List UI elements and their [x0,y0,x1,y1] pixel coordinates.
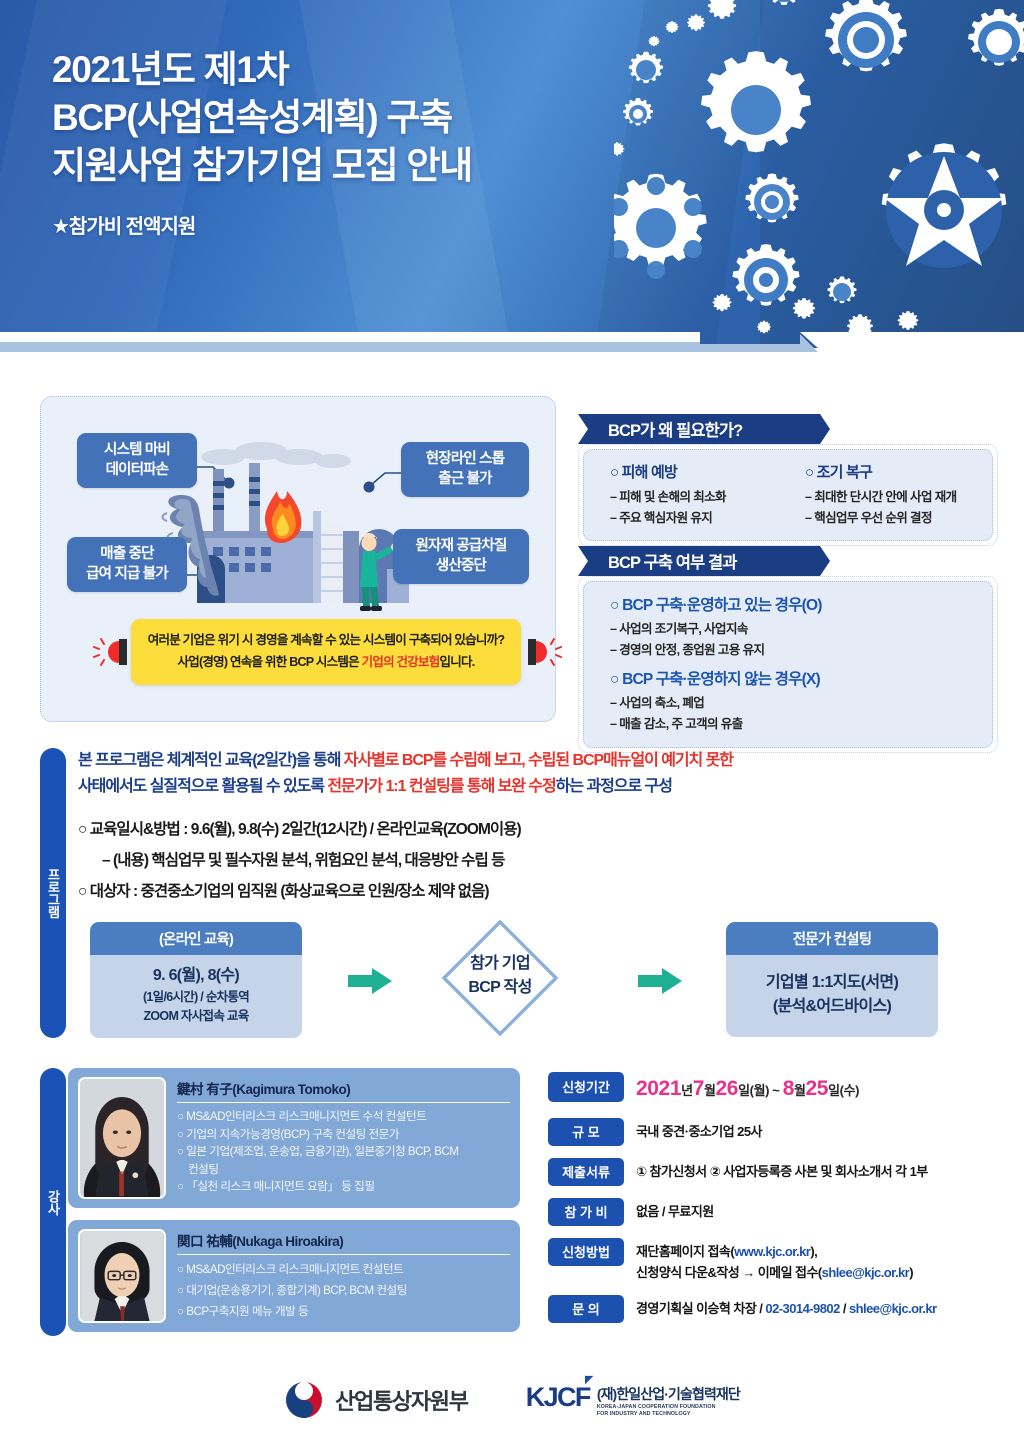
logo-kjcf-mark: KJCF◤ [526,1382,590,1413]
outcome-group-no: ○ BCP 구축·운영하지 않는 경우(X) – 사업의 축소, 폐업 – 매출… [610,667,978,734]
col1-item-1: – 피해 및 손해의 최소화 [610,487,783,508]
apply-label-contact: 문 의 [548,1295,624,1323]
diamond-line-2: BCP 작성 [440,976,560,1000]
apply-value-period: 2021년7월26일(월) ~ 8월25일(수) [624,1072,859,1106]
apply-value-documents: ① 참가신청서 ② 사업자등록증 사본 및 회사소개서 각 1부 [624,1158,928,1182]
apply-row-documents: 제출서류 ① 참가신청서 ② 사업자등록증 사본 및 회사소개서 각 1부 [548,1158,1000,1186]
apply-row-scale: 규 모 국내 중견·중소기업 25사 [548,1118,1000,1146]
group1-head: ○ BCP 구축·운영하고 있는 경우(O) [610,593,978,615]
lecturer-card-2: 関口 祐輔(Nukaga Hiroakira) ○ MS&AD인터리스크 리스크… [68,1220,520,1332]
chip-line-1: 시스템 마비 [87,441,187,461]
taegeuk-icon [284,1380,324,1420]
risk-chip-system-failure: 시스템 마비 데이터파손 [77,433,197,488]
section-bcp-outcome: BCP 구축 여부 결과 ○ BCP 구축·운영하고 있는 경우(O) – 사업… [578,546,998,753]
method-l1-link[interactable]: www.kjc.or.kr [734,1244,810,1259]
flow-box-online-training: (온라인 교육) 9. 6(월), 8(수) (1일/6시간) / 순차통역 Z… [90,922,302,1038]
callout-l2-highlight: 기업의 건강보험 [362,655,440,669]
chip-line-2: 출근 불가 [411,470,519,490]
callout-line-1: 여러분 기업은 위기 시 경영을 계속할 수 있는 시스템이 구축되어 있습니까… [148,630,505,652]
lecturer-1-bullet-3-cont: 컨설팅 [177,1161,510,1179]
poster-header: 2021년도 제1차 BCP(사업연속성계획) 구축 지원사업 참가기업 모집 … [0,0,1024,348]
period-text: 2021년7월26일(월) ~ 8월25일(수) [636,1083,859,1098]
risk-chip-line-stop: 현장라인 스톱 출근 불가 [401,442,529,497]
callout-line-2: 사업(경영) 연속을 위한 BCP 시스템은 기업의 건강보험입니다. [177,652,474,674]
logo-kjcf: KJCF◤ (재)한일산업·기술협력재단 KOREA-JAPAN COOPERA… [526,1382,740,1418]
flow-box-c-line-2: (분석&어드바이스) [726,995,938,1019]
logo-kjcf-superscript: ◤ [585,1373,592,1386]
callout-l2-pre: 사업(경영) 연속을 위한 BCP 시스템은 [177,655,361,669]
flow-box-a-line-1: 9. 6(월), 8(수) [90,964,302,988]
logo-kjcf-text: (재)한일산업·기술협력재단 KOREA-JAPAN COOPERATION F… [597,1382,740,1418]
risk-chip-supply-disruption: 원자재 공급차질 생산중단 [393,529,529,584]
lecturer-2-bullet-3: ○ BCP구축지원 메뉴 개발 등 [177,1302,510,1323]
apply-label-fee: 참 가 비 [548,1198,624,1226]
method-line-2: 신청양식 다운&작성 → 이메일 접수(shlee@kjc.or.kr) [636,1262,913,1283]
logo-kjcf-name: (재)한일산업·기술협력재단 [597,1384,740,1404]
logo-kjcf-mark-text: KJCF [526,1382,590,1412]
title-line-1: 2021년도 제1차 [52,46,732,94]
section-1-col-1: ○ 피해 예방 – 피해 및 손해의 최소화 – 주요 핵심자원 유지 [610,461,783,528]
period-day-2: 25 [806,1077,829,1100]
program-bullets: ○ 교육일시&방법 : 9.6(월), 9.8(수) 2일간(12시간) / 온… [78,818,998,904]
contact-phone[interactable]: 02-3014-9802 [765,1301,839,1316]
logo-motie: 산업통상자원부 [284,1380,468,1420]
apply-row-period: 신청기간 2021년7월26일(월) ~ 8월25일(수) [548,1072,1000,1106]
apply-label-scale: 규 모 [548,1118,624,1146]
lead-p2: 사태에서도 실질적으로 활용될 수 있도록 [78,778,327,795]
method-l1-pre: 재단홈페이지 접속( [636,1244,734,1259]
lecturer-1-info: 鍵村 有子(Kagimura Tomoko) ○ MS&AD인터리스크 리스크매… [177,1077,510,1199]
flow-diamond-label: 참가 기업 BCP 작성 [440,952,560,1000]
flow-box-a-line-3: ZOOM 자사접속 교육 [90,1007,302,1026]
title-line-3: 지원사업 참가기업 모집 안내 [52,142,732,190]
col2-head: ○ 조기 복구 [805,461,978,482]
contact-pre: 경영기획실 이승혁 차장 / [636,1301,765,1316]
application-info-table: 신청기간 2021년7월26일(월) ~ 8월25일(수) 규 모 국내 중견·… [548,1072,1000,1332]
flow-box-a-header: (온라인 교육) [90,922,302,955]
section-1-body: ○ 피해 예방 – 피해 및 손해의 최소화 – 주요 핵심자원 유지 ○ 조기… [583,449,993,541]
apply-value-scale: 국내 중견·중소기업 25사 [624,1118,762,1142]
flow-box-a-line-2: (1일/6시간) / 순차통역 [90,988,302,1007]
apply-value-method: 재단홈페이지 접속(www.kjc.or.kr), 신청양식 다운&작성 → 이… [624,1238,913,1283]
group1-item-1: – 사업의 조기복구, 사업지속 [610,619,978,640]
lead-r1: 자사별로 BCP를 수립해 보고, 수립된 BCP매뉴얼이 예기치 못한 [344,752,733,769]
period-year-unit: 년 [681,1083,693,1098]
chip-line-1: 매출 중단 [77,545,177,565]
period-day-1: 26 [716,1077,739,1100]
sidebar-tab-program-label: 프로그램 [47,868,60,918]
period-month-1-unit: 월 [704,1083,716,1098]
lead-p1: 본 프로그램은 체계적인 교육(2일간)을 통해 [78,752,344,769]
lecturer-1-bullet-3: ○ 일본 기업(제조업, 운송업, 금융기관), 일본중기청 BCP, BCM [177,1143,510,1161]
col2-item-2: – 핵심업무 우선 순위 결정 [805,508,978,529]
group1-item-2: – 경영의 안정, 종업원 고용 유지 [610,640,978,661]
period-month-2: 8 [783,1077,794,1100]
contact-mid: / [840,1301,849,1316]
program-bullet-2: – (내용) 핵심업무 및 필수자원 분석, 위험요인 분석, 대응방안 수립 … [78,849,998,873]
program-flow-diagram: (온라인 교육) 9. 6(월), 8(수) (1일/6시간) / 순차통역 Z… [90,922,998,1034]
flow-box-c-body: 기업별 1:1지도(서면) (분석&어드바이스) [726,955,938,1037]
chip-line-1: 현장라인 스톱 [411,450,519,470]
period-month-1: 7 [693,1077,704,1100]
outcome-group-yes: ○ BCP 구축·운영하고 있는 경우(O) – 사업의 조기복구, 사업지속 … [610,593,978,660]
flow-box-expert-consulting: 전문가 컨설팅 기업별 1:1지도(서면) (분석&어드바이스) [726,922,938,1037]
title-line-2: BCP(사업연속성계획) 구축 [52,94,732,142]
program-section: 본 프로그램은 체계적인 교육(2일간)을 통해 자사별로 BCP를 수립해 보… [78,748,998,911]
question-callout: 여러분 기업은 위기 시 경영을 계속할 수 있는 시스템이 구축되어 있습니까… [131,619,521,685]
program-bullet-3: ○ 대상자 : 중견중소기업의 임직원 (화상교육으로 인원/장소 제약 없음) [78,880,998,904]
lecturer-2-info: 関口 祐輔(Nukaga Hiroakira) ○ MS&AD인터리스크 리스크… [177,1229,510,1323]
apply-row-contact: 문 의 경영기획실 이승혁 차장 / 02-3014-9802 / shlee@… [548,1295,1000,1323]
diamond-line-1: 참가 기업 [440,952,560,976]
flow-box-c-header: 전문가 컨설팅 [726,922,938,955]
section-1-tab: BCP가 왜 필요한가? [578,414,830,444]
lecturer-2-name: 関口 祐輔(Nukaga Hiroakira) [177,1230,510,1255]
lecturer-1-bullet-1: ○ MS&AD인터리스크 리스크매니지먼트 수석 컨설턴트 [177,1108,510,1126]
group2-item-2: – 매출 감소, 주 고객의 유출 [610,714,978,735]
logo-motie-label: 산업통상자원부 [335,1384,468,1416]
section-why-bcp: BCP가 왜 필요한가? ○ 피해 예방 – 피해 및 손해의 최소화 – 주요… [578,414,998,546]
apply-label-period: 신청기간 [548,1072,624,1102]
poster-subtitle: ★참가비 전액지원 [52,210,732,239]
lecturer-1-bullet-4: ○ 「실천 리스크 매니지먼트 요람」 등 집필 [177,1178,510,1196]
col1-item-2: – 주요 핵심자원 유지 [610,508,783,529]
lecturer-card-1: 鍵村 有子(Kagimura Tomoko) ○ MS&AD인터리스크 리스크매… [68,1068,520,1208]
sidebar-tab-lecturer-label: 강사 [47,1190,60,1215]
callout-l2-post: 입니다. [440,655,475,669]
program-bullet-1: ○ 교육일시&방법 : 9.6(월), 9.8(수) 2일간(12시간) / 온… [78,818,998,842]
lecturer-1-name: 鍵村 有子(Kagimura Tomoko) [177,1078,510,1103]
method-l1-post: ), [810,1244,817,1259]
section-1-outer: ○ 피해 예방 – 피해 및 손해의 최소화 – 주요 핵심자원 유지 ○ 조기… [578,444,998,546]
logo-kjcf-en-1: KOREA-JAPAN COOPERATION FOUNDATION [597,1404,740,1411]
chip-line-1: 원자재 공급차질 [403,537,519,557]
flow-arrow-2-icon [638,968,682,994]
risk-chip-revenue-stop: 매출 중단 급여 지급 불가 [67,537,187,592]
program-lead: 본 프로그램은 체계적인 교육(2일간)을 통해 자사별로 BCP를 수립해 보… [78,748,998,800]
lecturer-1-continuation: 컨설팅 [177,1161,510,1179]
apply-value-contact: 경영기획실 이승혁 차장 / 02-3014-9802 / shlee@kjc.… [624,1295,937,1319]
flow-box-a-body: 9. 6(월), 8(수) (1일/6시간) / 순차통역 ZOOM 자사접속 … [90,955,302,1038]
flow-box-c-line-1: 기업별 1:1지도(서면) [726,971,938,995]
period-year: 2021 [636,1077,681,1100]
method-l2-post: ) [909,1265,913,1280]
lecturer-2-bullet-2: ○ 대기업(운송용기기, 종합기계) BCP, BCM 컨설팅 [177,1281,510,1302]
apply-row-method: 신청방법 재단홈페이지 접속(www.kjc.or.kr), 신청양식 다운&작… [548,1238,1000,1283]
flow-arrow-1-icon [348,968,392,994]
method-line-1: 재단홈페이지 접속(www.kjc.or.kr), [636,1241,913,1262]
lecturer-2-photo [78,1229,166,1323]
method-l2-link[interactable]: shlee@kjc.or.kr [822,1265,910,1280]
period-day-2-unit: 일(수) [828,1083,859,1098]
poster-title: 2021년도 제1차 BCP(사업연속성계획) 구축 지원사업 참가기업 모집 … [52,46,732,239]
section-2-tab: BCP 구축 여부 결과 [578,546,830,576]
group2-head: ○ BCP 구축·운영하지 않는 경우(X) [610,667,978,689]
col2-item-1: – 최대한 단시간 안에 사업 재개 [805,487,978,508]
footer-logos: 산업통상자원부 KJCF◤ (재)한일산업·기술협력재단 KOREA-JAPAN… [0,1368,1024,1432]
period-month-2-unit: 월 [794,1083,806,1098]
alarm-lamp-right-icon [524,635,562,669]
chip-line-2: 생산중단 [403,557,519,577]
chip-line-2: 데이터파손 [87,461,187,481]
lecturer-2-bullet-1: ○ MS&AD인터리스크 리스크매니지먼트 컨설턴트 [177,1260,510,1281]
factory-disaster-illustration [161,437,411,612]
period-day-1-unit: 일(월) ~ [738,1083,783,1098]
lead-r2: 전문가가 1:1 컨설팅를 통해 보완 수정 [327,778,555,795]
risk-diagram-panel: 시스템 마비 데이터파손 매출 중단 급여 지급 불가 현장라인 스톱 출근 불… [40,396,556,722]
logo-kjcf-en-2: FOR INDUSTRY AND TECHNOLOGY [597,1411,740,1418]
group2-item-1: – 사업의 축소, 폐업 [610,693,978,714]
col1-head: ○ 피해 예방 [610,461,783,482]
apply-label-method: 신청방법 [548,1238,624,1266]
sidebar-tab-program: 프로그램 [40,748,66,1038]
alarm-lamp-left-icon [93,635,131,669]
apply-label-documents: 제출서류 [548,1158,624,1186]
method-l2-pre: 신청양식 다운&작성 → 이메일 접수( [636,1265,822,1280]
chip-line-2: 급여 지급 불가 [77,565,177,585]
apply-row-fee: 참 가 비 없음 / 무료지원 [548,1198,1000,1226]
section-2-outer: ○ BCP 구축·운영하고 있는 경우(O) – 사업의 조기복구, 사업지속 … [578,576,998,753]
sidebar-tab-lecturer: 강사 [40,1068,66,1336]
contact-email[interactable]: shlee@kjc.or.kr [849,1301,937,1316]
section-1-col-2: ○ 조기 복구 – 최대한 단시간 안에 사업 재개 – 핵심업무 우선 순위 … [805,461,978,528]
section-2-body: ○ BCP 구축·운영하고 있는 경우(O) – 사업의 조기복구, 사업지속 … [583,581,993,748]
lead-p3: 하는 과정으로 구성 [556,778,672,795]
lecturer-1-bullet-2: ○ 기업의 지속가능경영(BCP) 구축 컨설팅 전문가 [177,1126,510,1144]
lecturer-1-photo [78,1077,166,1199]
apply-value-fee: 없음 / 무료지원 [624,1198,714,1222]
